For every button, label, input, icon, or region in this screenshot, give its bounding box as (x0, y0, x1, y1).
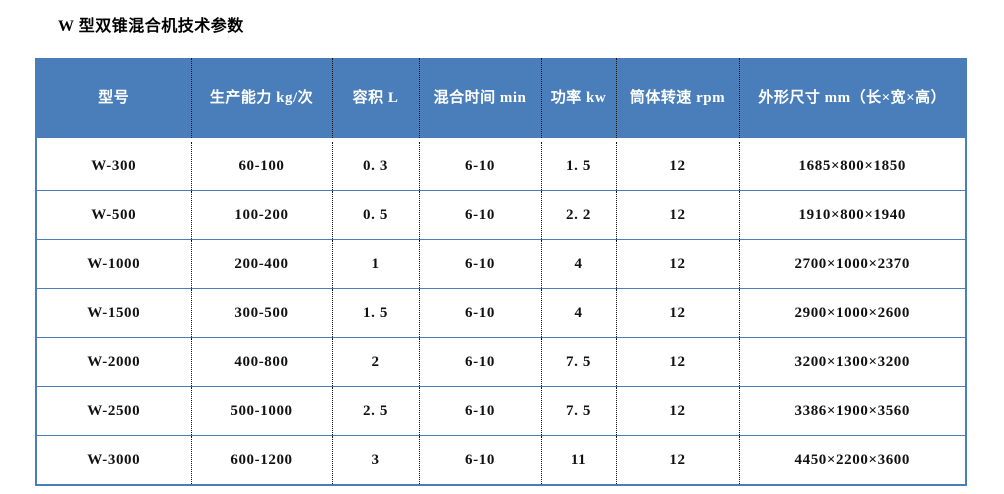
column-header-drum-speed: 筒体转速 rpm (616, 58, 739, 138)
cell-capacity: 500-1000 (191, 387, 332, 436)
cell-drum-speed: 12 (616, 387, 739, 436)
cell-dimensions: 4450×2200×3600 (739, 436, 966, 486)
cell-model: W-300 (36, 142, 191, 191)
column-header-power: 功率 kw (541, 58, 616, 138)
cell-model: W-3000 (36, 436, 191, 486)
cell-dimensions: 1910×800×1940 (739, 191, 966, 240)
cell-power: 4 (541, 240, 616, 289)
cell-power: 1. 5 (541, 142, 616, 191)
column-header-volume: 容积 L (332, 58, 419, 138)
cell-dimensions: 1685×800×1850 (739, 142, 966, 191)
cell-capacity: 100-200 (191, 191, 332, 240)
cell-mix-time: 6-10 (419, 289, 541, 338)
cell-drum-speed: 12 (616, 289, 739, 338)
cell-volume: 2 (332, 338, 419, 387)
page-title: W 型双锥混合机技术参数 (58, 12, 244, 36)
cell-dimensions: 2900×1000×2600 (739, 289, 966, 338)
cell-volume: 2. 5 (332, 387, 419, 436)
cell-mix-time: 6-10 (419, 191, 541, 240)
cell-dimensions: 3386×1900×3560 (739, 387, 966, 436)
cell-mix-time: 6-10 (419, 240, 541, 289)
cell-volume: 3 (332, 436, 419, 486)
cell-model: W-2000 (36, 338, 191, 387)
table-row: W-500 100-200 0. 5 6-10 2. 2 12 1910×800… (36, 191, 966, 240)
cell-model: W-1500 (36, 289, 191, 338)
column-header-mix-time: 混合时间 min (419, 58, 541, 138)
cell-volume: 1. 5 (332, 289, 419, 338)
cell-model: W-500 (36, 191, 191, 240)
cell-capacity: 60-100 (191, 142, 332, 191)
cell-drum-speed: 12 (616, 142, 739, 191)
cell-drum-speed: 12 (616, 338, 739, 387)
table-header-row: 型号 生产能力 kg/次 容积 L 混合时间 min 功率 kw 筒体转速 rp… (36, 58, 966, 138)
cell-volume: 0. 5 (332, 191, 419, 240)
column-header-dimensions: 外形尺寸 mm（长×宽×高） (739, 58, 966, 138)
column-header-model: 型号 (36, 58, 191, 138)
cell-power: 2. 2 (541, 191, 616, 240)
table-row: W-1500 300-500 1. 5 6-10 4 12 2900×1000×… (36, 289, 966, 338)
table-header: 型号 生产能力 kg/次 容积 L 混合时间 min 功率 kw 筒体转速 rp… (36, 58, 966, 142)
cell-capacity: 400-800 (191, 338, 332, 387)
cell-mix-time: 6-10 (419, 436, 541, 486)
table-body: W-300 60-100 0. 3 6-10 1. 5 12 1685×800×… (36, 142, 966, 485)
cell-capacity: 600-1200 (191, 436, 332, 486)
cell-mix-time: 6-10 (419, 338, 541, 387)
table-row: W-2000 400-800 2 6-10 7. 5 12 3200×1300×… (36, 338, 966, 387)
table-row: W-3000 600-1200 3 6-10 11 12 4450×2200×3… (36, 436, 966, 486)
cell-model: W-2500 (36, 387, 191, 436)
cell-model: W-1000 (36, 240, 191, 289)
cell-volume: 1 (332, 240, 419, 289)
cell-drum-speed: 12 (616, 240, 739, 289)
table-row: W-1000 200-400 1 6-10 4 12 2700×1000×237… (36, 240, 966, 289)
cell-capacity: 200-400 (191, 240, 332, 289)
column-header-capacity: 生产能力 kg/次 (191, 58, 332, 138)
cell-capacity: 300-500 (191, 289, 332, 338)
cell-dimensions: 3200×1300×3200 (739, 338, 966, 387)
cell-power: 7. 5 (541, 338, 616, 387)
cell-dimensions: 2700×1000×2370 (739, 240, 966, 289)
cell-volume: 0. 3 (332, 142, 419, 191)
table-row: W-300 60-100 0. 3 6-10 1. 5 12 1685×800×… (36, 142, 966, 191)
cell-power: 7. 5 (541, 387, 616, 436)
cell-mix-time: 6-10 (419, 142, 541, 191)
table-row: W-2500 500-1000 2. 5 6-10 7. 5 12 3386×1… (36, 387, 966, 436)
page-root: W 型双锥混合机技术参数 型号 生产能力 kg/次 容积 L 混合时间 min … (0, 0, 1004, 494)
cell-drum-speed: 12 (616, 436, 739, 486)
cell-power: 4 (541, 289, 616, 338)
technical-parameters-table: 型号 生产能力 kg/次 容积 L 混合时间 min 功率 kw 筒体转速 rp… (35, 58, 967, 486)
spec-table-container: 型号 生产能力 kg/次 容积 L 混合时间 min 功率 kw 筒体转速 rp… (35, 58, 965, 486)
cell-mix-time: 6-10 (419, 387, 541, 436)
cell-power: 11 (541, 436, 616, 486)
cell-drum-speed: 12 (616, 191, 739, 240)
